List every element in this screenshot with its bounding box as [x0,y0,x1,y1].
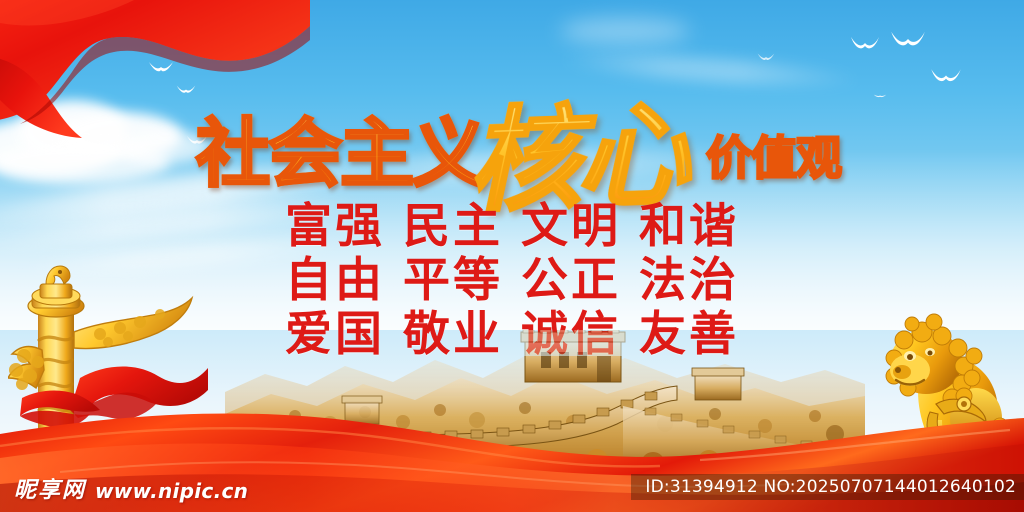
poster-title: 社会主义 核心 价值观 [0,74,1024,192]
site-logo-text: 昵享网 [14,479,86,503]
dove-icon [757,52,775,62]
watermark: 昵享网 www.nipic.cn [14,479,248,503]
value-word: 文明 [521,199,621,254]
dove-icon [850,34,880,52]
value-word: 富强 [285,199,385,254]
site-url-text: www.nipic.cn [95,479,248,503]
image-id-text: ID:31394912 NO:20250707144012640102 [645,477,1016,497]
dove-icon [890,28,926,50]
image-id-bar: ID:31394912 NO:20250707144012640102 [631,474,1024,500]
value-word: 法治 [639,253,739,308]
title-main-text: 社会主义 [196,94,484,201]
title-sub-text: 价值观 [706,122,841,188]
value-word: 和谐 [639,199,739,254]
value-word: 民主 [403,199,503,254]
value-word: 公正 [521,253,621,308]
value-line-1: 富强民主文明和谐 [0,200,1024,254]
value-word: 平等 [403,253,503,308]
value-word: 自由 [285,253,385,308]
poster-canvas: 社会主义 核心 价值观 富强民主文明和谐 自由平等公正法治 爱国敬业诚信友善 [0,0,1024,512]
